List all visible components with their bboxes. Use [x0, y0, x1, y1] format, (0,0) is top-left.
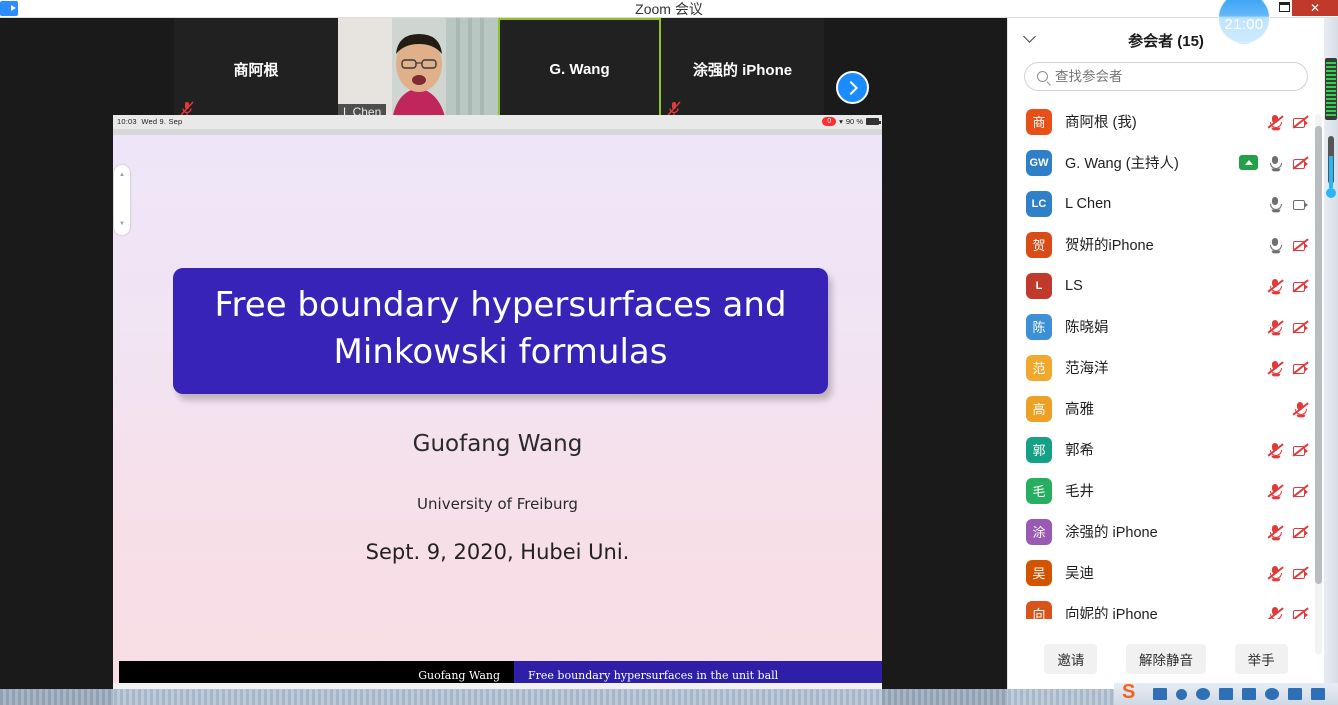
- chevron-down-icon[interactable]: [1022, 32, 1036, 46]
- desktop-background-strip: [0, 689, 1114, 705]
- participant-name: 陈晓娟: [1065, 316, 1267, 337]
- participant-row[interactable]: 涂 涂强的 iPhone: [1008, 511, 1324, 552]
- slide-title-box: Free boundary hypersurfaces and Minkowsk…: [173, 268, 828, 394]
- ipad-status-bar: 10:03 Wed 9. Sep 0 ▾ 90 %: [113, 115, 882, 129]
- participant-status-icons: [1267, 237, 1308, 253]
- participants-search-box[interactable]: [1024, 62, 1308, 91]
- avatar: 范: [1026, 355, 1052, 381]
- mic-muted-icon[interactable]: [1267, 442, 1283, 458]
- participant-row[interactable]: 商 商阿根 (我): [1008, 101, 1324, 142]
- participant-status-icons: [1267, 565, 1308, 581]
- participant-status-icons: [1267, 278, 1308, 294]
- camera-off-icon[interactable]: [1292, 360, 1308, 376]
- participant-name: LS: [1065, 278, 1267, 294]
- avatar: GW: [1026, 150, 1052, 176]
- camera-off-icon[interactable]: [1292, 483, 1308, 499]
- keyboard-icon[interactable]: [1242, 688, 1256, 700]
- video-thumbnail[interactable]: L Chen: [338, 18, 498, 121]
- mic-on-icon[interactable]: [1267, 196, 1283, 212]
- participant-row[interactable]: 郭 郭希: [1008, 429, 1324, 470]
- video-thumbnail[interactable]: 涂强的 iPhone: [661, 18, 824, 121]
- host-share-badge-icon: [1239, 155, 1258, 170]
- mic-muted-icon[interactable]: [1267, 319, 1283, 335]
- wifi-icon: ▾: [839, 117, 843, 126]
- participant-name: 吴迪: [1065, 562, 1267, 583]
- raise-hand-button[interactable]: 举手: [1235, 644, 1288, 674]
- participant-status-icons: [1267, 442, 1308, 458]
- participant-row[interactable]: 向 向妮的 iPhone: [1008, 593, 1324, 619]
- participant-status-icons: [1267, 606, 1308, 620]
- sogou-logo-icon[interactable]: S: [1122, 682, 1144, 702]
- avatar: 吴: [1026, 560, 1052, 586]
- avatar: 毛: [1026, 478, 1052, 504]
- thumbnail-name: 商阿根: [233, 59, 278, 80]
- window-title: Zoom 会议: [0, 0, 1338, 18]
- status-indicators: 0 ▾ 90 %: [822, 117, 879, 126]
- participant-name: 范海洋: [1065, 357, 1267, 378]
- participant-row[interactable]: 吴 吴迪: [1008, 552, 1324, 593]
- battery-icon: [866, 118, 879, 125]
- skin-icon[interactable]: [1288, 688, 1302, 700]
- camera-off-icon[interactable]: [1292, 606, 1308, 620]
- filmstrip-next-button[interactable]: [836, 71, 869, 104]
- mic-muted-icon[interactable]: [1267, 360, 1283, 376]
- mic-muted-icon[interactable]: [1267, 114, 1283, 130]
- participant-row[interactable]: L LS: [1008, 265, 1324, 306]
- participant-status-icons: [1292, 401, 1308, 417]
- recording-indicator: 0: [822, 117, 836, 126]
- panel-icon[interactable]: [1311, 688, 1325, 700]
- slide-title-line-1: Free boundary hypersurfaces and: [183, 282, 818, 329]
- voice-input-icon[interactable]: [1219, 688, 1233, 700]
- video-thumbnail-active-speaker[interactable]: G. Wang: [498, 18, 661, 121]
- camera-off-icon[interactable]: [1292, 237, 1308, 253]
- cpu-meter-gadget: [1325, 58, 1337, 120]
- mic-muted-icon[interactable]: [1267, 524, 1283, 540]
- avatar: 陈: [1026, 314, 1052, 340]
- punctuation-icon[interactable]: [1176, 689, 1187, 700]
- zoom-meeting-window: Zoom 会议 ✕ 商阿根: [0, 0, 1338, 705]
- emoji-icon[interactable]: [1196, 688, 1210, 700]
- participants-panel-header: 参会者 (15): [1008, 18, 1324, 62]
- thumbnail-name: 涂强的 iPhone: [693, 59, 792, 80]
- status-datetime: 10:03 Wed 9. Sep: [117, 117, 182, 126]
- camera-off-icon[interactable]: [1292, 565, 1308, 581]
- participant-row[interactable]: 毛 毛井: [1008, 470, 1324, 511]
- invite-button[interactable]: 邀请: [1044, 644, 1097, 674]
- participant-status-icons: [1267, 524, 1308, 540]
- scroll-up-icon: ▲: [118, 173, 126, 178]
- participant-name: 涂强的 iPhone: [1065, 521, 1267, 542]
- sogou-ime-toolbar[interactable]: S: [1114, 683, 1338, 705]
- avatar: 高: [1026, 396, 1052, 422]
- participant-status-icons: [1267, 114, 1308, 130]
- slide-affiliation: University of Freiburg: [113, 495, 882, 513]
- participant-row[interactable]: LC L Chen: [1008, 183, 1324, 224]
- camera-off-icon[interactable]: [1292, 155, 1308, 171]
- video-filmstrip: 商阿根: [0, 18, 1007, 121]
- slide-footer-author: Guofang Wang: [119, 661, 514, 683]
- shared-screen: 10:03 Wed 9. Sep 0 ▾ 90 % ▲ ▼ Free bound…: [113, 115, 882, 705]
- participant-status-icons: [1267, 196, 1308, 212]
- participant-name: 毛井: [1065, 480, 1267, 501]
- avatar: 商: [1026, 109, 1052, 135]
- participant-name: 郭希: [1065, 439, 1267, 460]
- participant-row[interactable]: 陈 陈晓娟: [1008, 306, 1324, 347]
- participant-row[interactable]: 贺 贺妍的iPhone: [1008, 224, 1324, 265]
- participant-name: 向妮的 iPhone: [1065, 603, 1267, 619]
- mic-muted-icon[interactable]: [1267, 278, 1283, 294]
- camera-off-icon[interactable]: [1292, 319, 1308, 335]
- mic-on-icon[interactable]: [1267, 237, 1283, 253]
- slide-title-line-2: Minkowski formulas: [183, 329, 818, 376]
- thermometer-gadget: [1326, 136, 1336, 198]
- participants-panel: 参会者 (15) 商 商阿根 (我) GW G. Wang (主持人): [1007, 18, 1324, 705]
- slide-date: Sept. 9, 2020, Hubei Uni.: [113, 540, 882, 564]
- camera-off-icon[interactable]: [1292, 524, 1308, 540]
- camera-off-icon[interactable]: [1292, 114, 1308, 130]
- search-icon: [1037, 71, 1048, 82]
- participant-status-icons: [1267, 483, 1308, 499]
- mic-muted-icon[interactable]: [1267, 606, 1283, 620]
- desktop-gadgets-strip: [1324, 18, 1338, 705]
- participant-name: G. Wang (主持人): [1065, 152, 1239, 173]
- participant-name: 贺妍的iPhone: [1065, 234, 1267, 255]
- mic-muted-icon[interactable]: [1292, 401, 1308, 417]
- close-window-button[interactable]: ✕: [1292, 0, 1338, 16]
- participant-row[interactable]: 高 高雅: [1008, 388, 1324, 429]
- participant-row[interactable]: GW G. Wang (主持人): [1008, 142, 1324, 183]
- avatar: LC: [1026, 191, 1052, 217]
- slide-footer-title: Free boundary hypersurfaces in the unit …: [514, 661, 882, 683]
- participant-status-icons: [1239, 155, 1308, 171]
- scroll-down-icon: ▼: [118, 222, 126, 227]
- participant-status-icons: [1267, 360, 1308, 376]
- participants-scrollbar[interactable]: [1315, 114, 1322, 654]
- participants-count-title: 参会者 (15): [1128, 30, 1204, 51]
- video-thumbnail[interactable]: 商阿根: [174, 18, 338, 121]
- slide-footer: Guofang Wang Free boundary hypersurfaces…: [119, 661, 882, 683]
- unmute-button[interactable]: 解除静音: [1126, 644, 1206, 674]
- avatar: L: [1026, 273, 1052, 299]
- participant-status-icons: [1267, 319, 1308, 335]
- meeting-stage: 商阿根: [0, 18, 1007, 705]
- presentation-slide: ▲ ▼ Free boundary hypersurfaces and Mink…: [113, 135, 882, 683]
- participant-name: 高雅: [1065, 398, 1292, 419]
- participants-panel-footer: 邀请 解除静音 举手: [1008, 635, 1324, 683]
- participant-name: L Chen: [1065, 196, 1267, 212]
- restore-window-button[interactable]: [1279, 2, 1290, 12]
- toolbox-icon[interactable]: [1153, 688, 1167, 700]
- slide-author: Guofang Wang: [113, 431, 882, 457]
- clock-time: 21:00: [1219, 16, 1269, 33]
- thumbnail-name: G. Wang: [549, 61, 609, 78]
- search-input[interactable]: [1055, 69, 1295, 84]
- mic-muted-icon[interactable]: [1267, 565, 1283, 581]
- avatar: 涂: [1026, 519, 1052, 545]
- camera-on-icon[interactable]: [1292, 196, 1308, 212]
- avatar: 郭: [1026, 437, 1052, 463]
- camera-off-icon[interactable]: [1292, 442, 1308, 458]
- participants-search-wrap: [1008, 62, 1324, 101]
- camera-off-icon[interactable]: [1292, 278, 1308, 294]
- participant-name: 商阿根 (我): [1065, 111, 1267, 132]
- avatar: 贺: [1026, 232, 1052, 258]
- battery-percent: 90 %: [846, 117, 863, 126]
- participant-row[interactable]: 范 范海洋: [1008, 347, 1324, 388]
- mic-on-icon[interactable]: [1267, 155, 1283, 171]
- slide-scroll-control[interactable]: ▲ ▼: [114, 165, 130, 235]
- window-titlebar: Zoom 会议 ✕: [0, 0, 1338, 18]
- avatar: 向: [1026, 601, 1052, 620]
- participants-list[interactable]: 商 商阿根 (我) GW G. Wang (主持人) LC L Chen: [1008, 101, 1324, 619]
- user-icon[interactable]: [1265, 688, 1279, 700]
- mic-muted-icon[interactable]: [1267, 483, 1283, 499]
